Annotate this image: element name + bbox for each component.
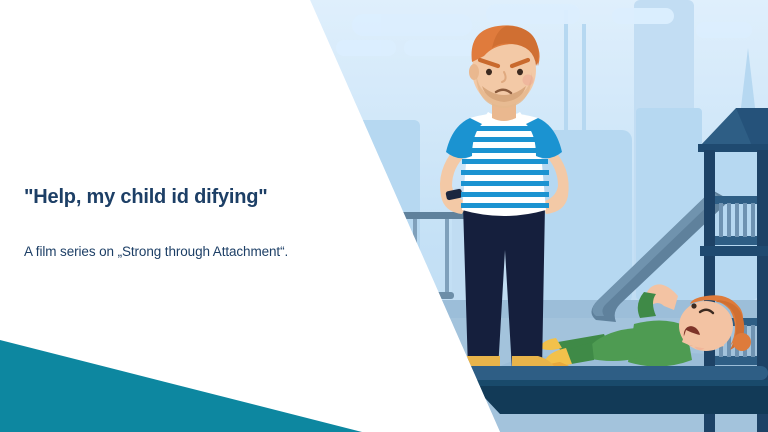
- presentation-slide: "Help, my child id difying" A film serie…: [0, 0, 768, 432]
- text-block: "Help, my child id difying" A film serie…: [24, 185, 324, 261]
- foreground-platform: [460, 366, 768, 414]
- page-title: "Help, my child id difying": [24, 185, 324, 209]
- page-subtitle: A film series on „Strong through Attachm…: [24, 243, 324, 261]
